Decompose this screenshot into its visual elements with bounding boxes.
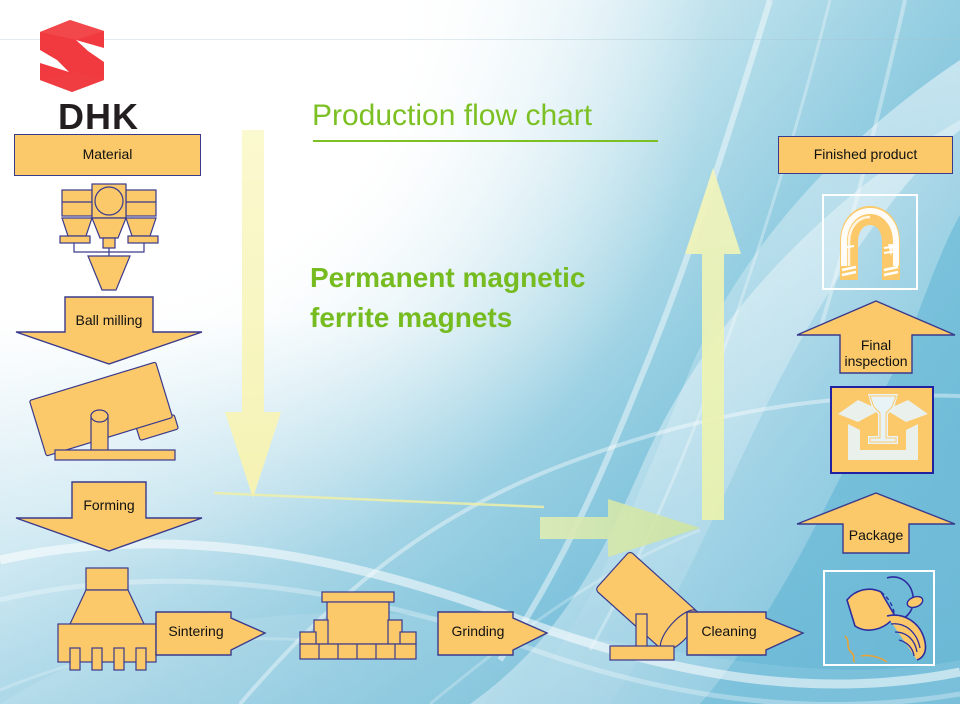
flow-step-finished-product[interactable]: Finished product bbox=[778, 136, 953, 174]
headline-line-1: Permanent magnetic bbox=[310, 258, 710, 298]
horseshoe-magnet-icon-frame bbox=[822, 194, 918, 290]
down-arrow-shape bbox=[14, 296, 204, 366]
flow-step-material[interactable]: Material bbox=[14, 134, 201, 176]
up-arrow-shape bbox=[795, 492, 957, 554]
dhk-hexagon-s-logo-icon bbox=[28, 18, 118, 94]
flow-step-cleaning[interactable]: Cleaning bbox=[686, 611, 806, 656]
right-arrow-shape bbox=[155, 611, 267, 656]
fragile-box-icon-frame bbox=[830, 386, 934, 474]
flow-step-sintering[interactable]: Sintering bbox=[155, 611, 267, 656]
brand-name: DHK bbox=[58, 96, 139, 138]
dhk-logo: DHK bbox=[28, 18, 148, 118]
page-title-underline bbox=[313, 140, 658, 142]
headline: Permanent magnetic ferrite magnets bbox=[310, 258, 710, 338]
flow-step-final-inspection[interactable]: Final inspection bbox=[795, 300, 957, 374]
flow-step-finished-product-label: Finished product bbox=[814, 147, 918, 163]
flow-step-grinding[interactable]: Grinding bbox=[437, 611, 549, 656]
flow-step-material-label: Material bbox=[83, 147, 133, 163]
page-title: Production flow chart bbox=[312, 99, 592, 133]
slide-canvas: DHK Production flow chart Permanent magn… bbox=[0, 0, 960, 704]
water-splash-icon-frame bbox=[823, 570, 935, 666]
flow-step-package[interactable]: Package bbox=[795, 492, 957, 554]
up-arrow-shape bbox=[795, 300, 957, 374]
flow-step-forming[interactable]: Forming bbox=[14, 481, 204, 553]
flow-step-ball-milling[interactable]: Ball milling bbox=[14, 296, 204, 366]
down-arrow-shape bbox=[14, 481, 204, 553]
right-arrow-shape bbox=[437, 611, 549, 656]
headline-line-2: ferrite magnets bbox=[310, 298, 710, 338]
right-arrow-shape bbox=[686, 611, 806, 656]
